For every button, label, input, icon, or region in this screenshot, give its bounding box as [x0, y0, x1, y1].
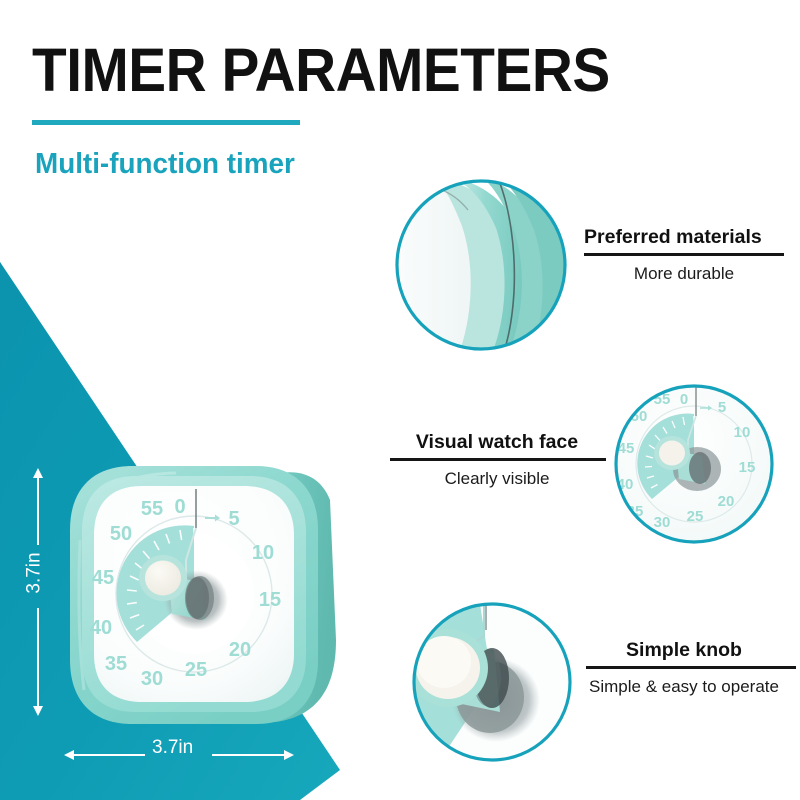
callout-simple-knob: Simple knob Simple & easy to operate	[586, 640, 798, 699]
infographic-canvas: TIMER PARAMETERS Multi-function timer	[0, 0, 800, 800]
callout-subtitle-face: Clearly visible	[390, 468, 604, 491]
callout-title-face: Visual watch face	[390, 432, 604, 453]
callout-visual-watch-face: Visual watch face Clearly visible	[390, 432, 608, 491]
callout-title-knob: Simple knob	[586, 640, 782, 661]
callout-divider-materials	[584, 253, 784, 256]
callout-subtitle-knob: Simple & easy to operate	[586, 676, 782, 699]
callout-divider-knob	[586, 666, 796, 669]
callout-divider-face	[390, 458, 606, 461]
callout-subtitle-materials: More durable	[584, 263, 784, 286]
callout-preferred-materials: Preferred materials More durable	[584, 227, 796, 286]
callout-title-materials: Preferred materials	[584, 227, 796, 248]
